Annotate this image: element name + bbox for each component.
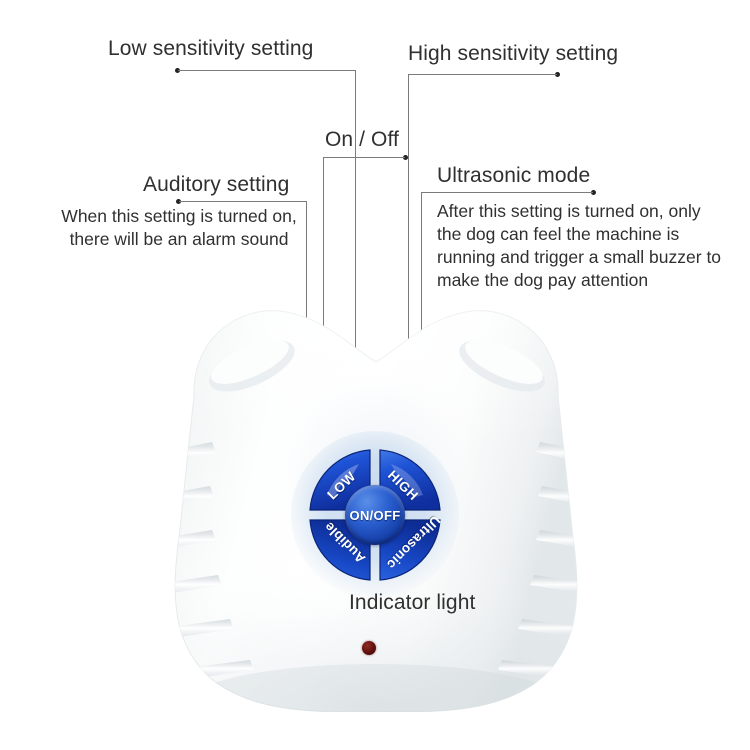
button-on-off-label: ON/OFF <box>350 508 401 523</box>
label-low-sensitivity: Low sensitivity setting <box>108 36 313 61</box>
button-on-off[interactable]: ON/OFF <box>345 485 405 545</box>
leader-line-auditory-h <box>179 201 306 202</box>
leader-line-low-h <box>178 70 355 71</box>
leader-line-high-h <box>408 74 557 75</box>
leader-line-ultrasonic-h <box>421 192 593 193</box>
description-auditory: When this setting is turned on, there wi… <box>45 205 313 251</box>
description-ultrasonic: After this setting is turned on, only th… <box>437 200 729 292</box>
infographic-page: LOW HIGH Audible Ultrasonic ON/OFF Low s… <box>0 0 750 750</box>
label-auditory-setting: Auditory setting <box>143 172 289 197</box>
indicator-light-led <box>362 641 376 655</box>
leader-line-onoff-h <box>323 157 405 158</box>
label-on-off: On / Off <box>325 127 399 152</box>
label-ultrasonic-mode: Ultrasonic mode <box>437 163 590 188</box>
label-indicator-light: Indicator light <box>349 590 475 615</box>
label-high-sensitivity: High sensitivity setting <box>408 41 618 66</box>
control-button-cluster: LOW HIGH Audible Ultrasonic ON/OFF <box>307 447 443 583</box>
